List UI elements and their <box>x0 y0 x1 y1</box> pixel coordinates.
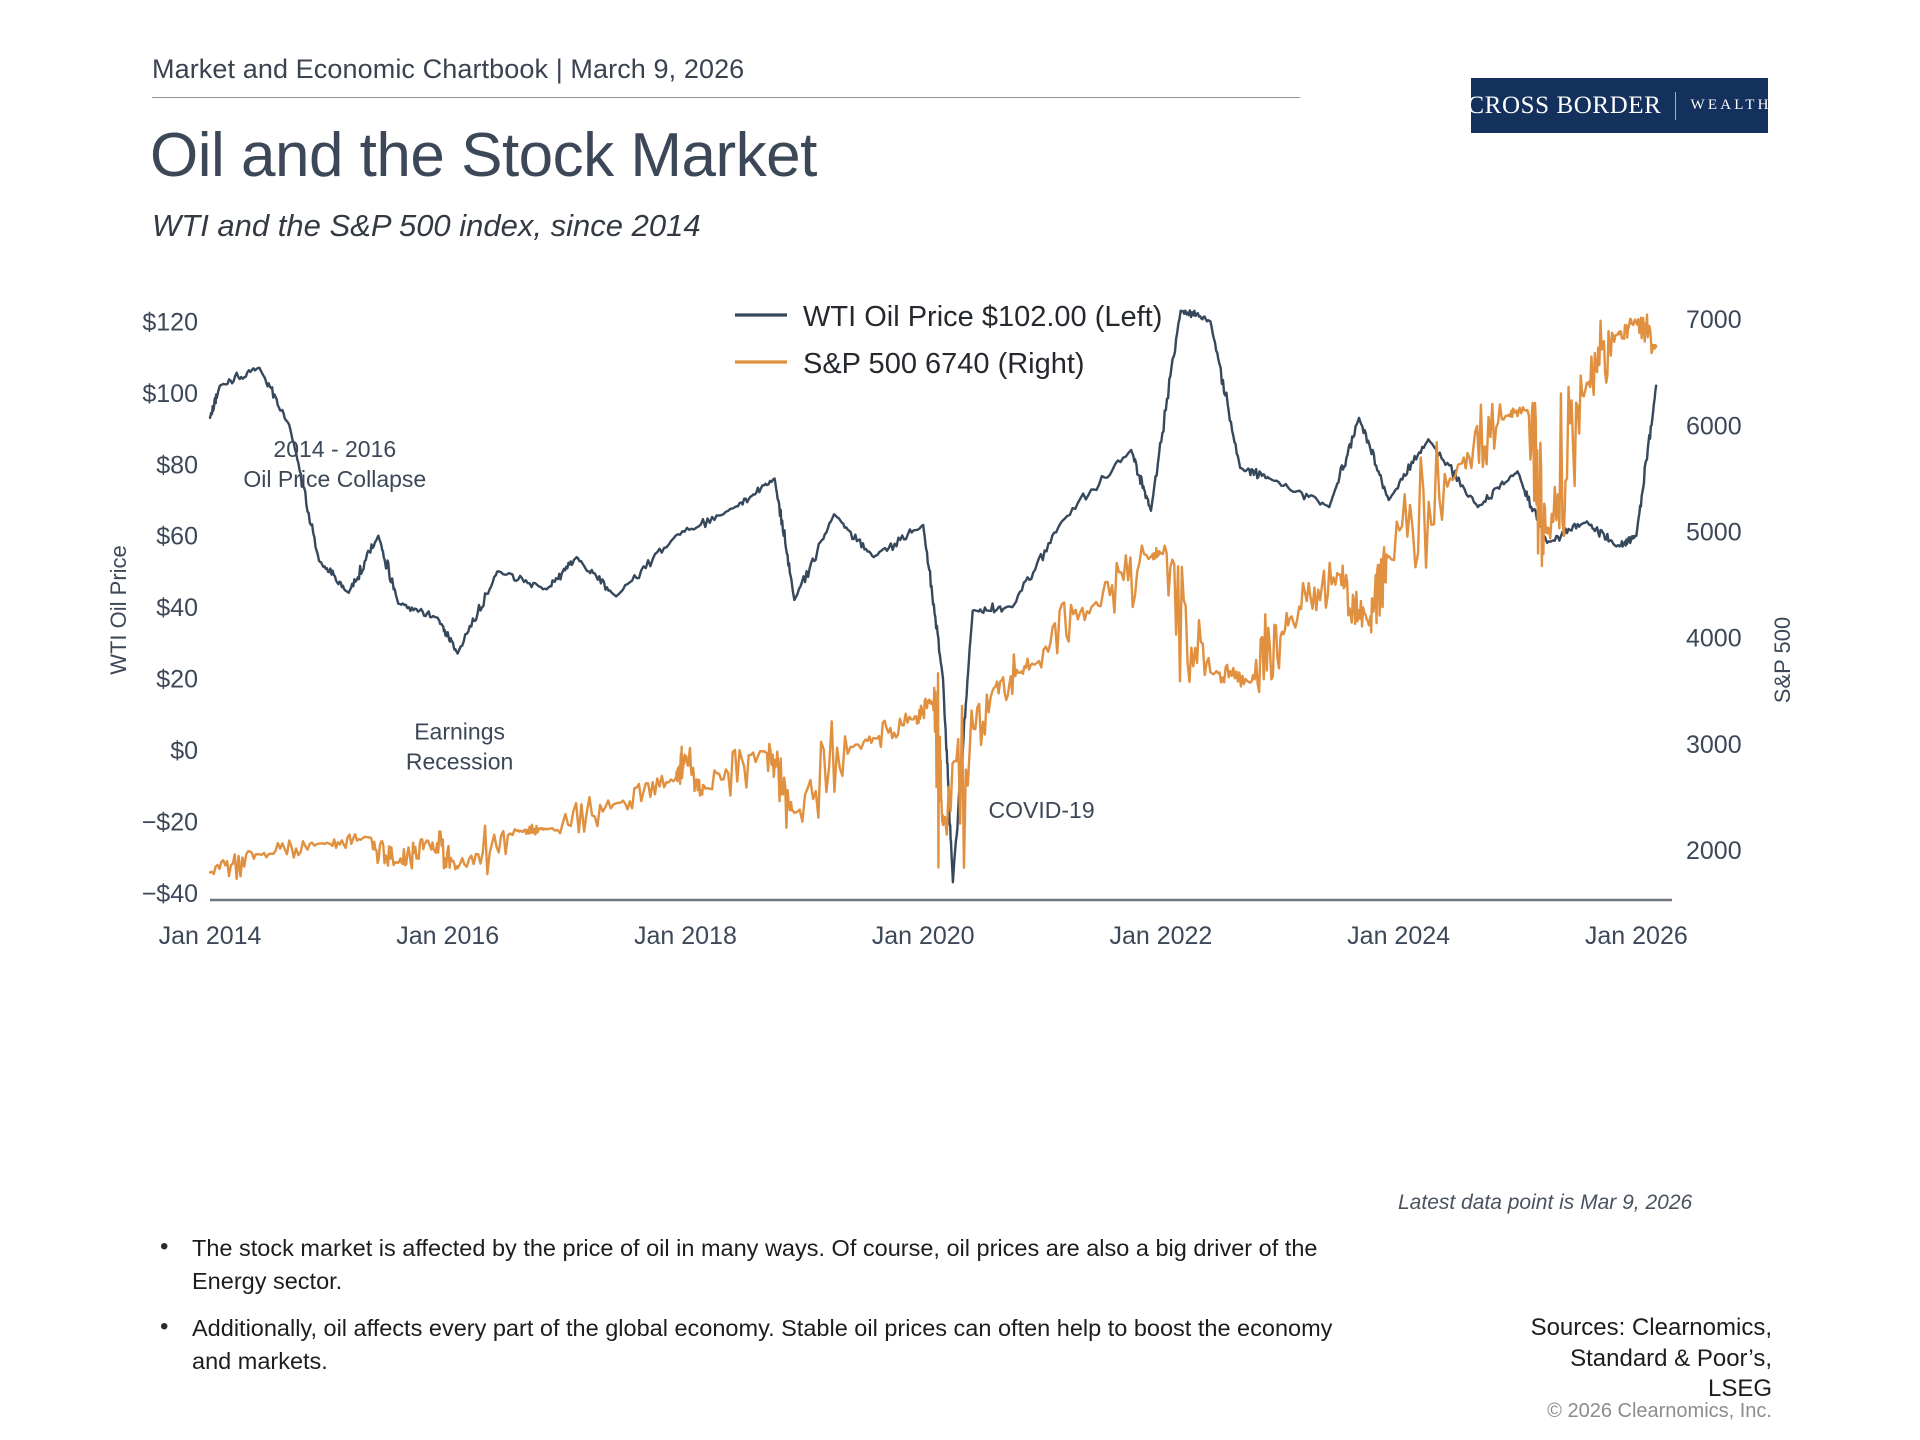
logo-primary-text: CROSS BORDER <box>1467 92 1661 120</box>
x-axis-ticks: Jan 2014Jan 2016Jan 2018Jan 2020Jan 2022… <box>159 922 1688 950</box>
sources-block: Sources: Clearnomics, Standard & Poor’s,… <box>1531 1313 1772 1405</box>
right-tick-label: 6000 <box>1686 412 1742 440</box>
header-bar: Market and Economic Chartbook | March 9,… <box>152 54 1300 98</box>
page-subtitle: WTI and the S&P 500 index, since 2014 <box>152 208 701 244</box>
annotation-oil-price-collapse: 2014 - 2016Oil Price Collapse <box>243 436 426 492</box>
logo-divider <box>1675 92 1676 120</box>
annotation-line: 2014 - 2016 <box>273 436 396 462</box>
x-tick-label: Jan 2024 <box>1347 922 1450 950</box>
list-item: • The stock market is affected by the pr… <box>160 1232 1370 1299</box>
wti-oil-price-line <box>210 310 1656 882</box>
annotation-line: Recession <box>406 748 513 774</box>
bullet-text: Additionally, oil affects every part of … <box>192 1312 1370 1379</box>
left-tick-label: −$20 <box>142 808 198 836</box>
page-title: Oil and the Stock Market <box>150 120 817 191</box>
list-item: • Additionally, oil affects every part o… <box>160 1312 1370 1379</box>
x-tick-label: Jan 2016 <box>396 922 499 950</box>
right-axis-title: S&P 500 <box>1770 617 1795 703</box>
header-divider <box>152 97 1300 98</box>
right-tick-label: 5000 <box>1686 519 1742 547</box>
annotation-earnings-recession: EarningsRecession <box>406 718 513 774</box>
bullet-dot-icon: • <box>160 1232 192 1259</box>
chart-annotations: 2014 - 2016Oil Price CollapseEarningsRec… <box>243 436 1094 823</box>
right-axis-ticks: 700060005000400030002000 <box>1686 306 1742 865</box>
sources-line: Standard & Poor’s, <box>1531 1344 1772 1375</box>
left-tick-label: −$40 <box>142 880 198 908</box>
left-tick-label: $20 <box>156 666 198 694</box>
x-tick-label: Jan 2026 <box>1585 922 1688 950</box>
chart-container: $120$100$80$60$40$20$0−$20−$40 700060005… <box>0 280 1920 1150</box>
right-tick-label: 4000 <box>1686 625 1742 653</box>
copyright-notice: © 2026 Clearnomics, Inc. <box>1547 1400 1772 1423</box>
series-lines <box>210 310 1656 882</box>
bullet-text: The stock market is affected by the pric… <box>192 1232 1370 1299</box>
left-tick-label: $100 <box>142 380 198 408</box>
x-tick-label: Jan 2018 <box>634 922 737 950</box>
sources-line: Sources: Clearnomics, <box>1531 1313 1772 1344</box>
chartbook-label: Market and Economic Chartbook | March 9,… <box>152 54 1300 85</box>
left-axis-title: WTI Oil Price <box>106 545 131 675</box>
x-tick-label: Jan 2020 <box>872 922 975 950</box>
legend-label-wti: WTI Oil Price $102.00 (Left) <box>803 301 1162 333</box>
oil-vs-sp500-line-chart: $120$100$80$60$40$20$0−$20−$40 700060005… <box>0 280 1920 1150</box>
annotation-line: COVID-19 <box>989 797 1095 823</box>
annotation-line: Earnings <box>414 718 505 744</box>
left-tick-label: $60 <box>156 523 198 551</box>
brand-logo: CROSS BORDER WEALTH <box>1471 78 1768 133</box>
left-tick-label: $0 <box>170 737 198 765</box>
x-tick-label: Jan 2022 <box>1109 922 1212 950</box>
left-tick-label: $40 <box>156 594 198 622</box>
right-tick-label: 2000 <box>1686 837 1742 865</box>
annotation-covid-19: COVID-19 <box>989 797 1095 823</box>
right-tick-label: 3000 <box>1686 731 1742 759</box>
annotation-line: Oil Price Collapse <box>243 466 426 492</box>
x-tick-label: Jan 2014 <box>159 922 262 950</box>
bullet-dot-icon: • <box>160 1312 192 1339</box>
chart-legend: WTI Oil Price $102.00 (Left)S&P 500 6740… <box>735 301 1162 380</box>
latest-data-point-note: Latest data point is Mar 9, 2026 <box>1398 1191 1692 1215</box>
left-tick-label: $80 <box>156 451 198 479</box>
logo-secondary-text: WEALTH <box>1690 97 1771 114</box>
left-axis-ticks: $120$100$80$60$40$20$0−$20−$40 <box>142 308 198 907</box>
left-tick-label: $120 <box>142 308 198 336</box>
legend-label-sp500: S&P 500 6740 (Right) <box>803 348 1085 380</box>
bullet-list: • The stock market is affected by the pr… <box>160 1232 1370 1391</box>
right-tick-label: 7000 <box>1686 306 1742 334</box>
